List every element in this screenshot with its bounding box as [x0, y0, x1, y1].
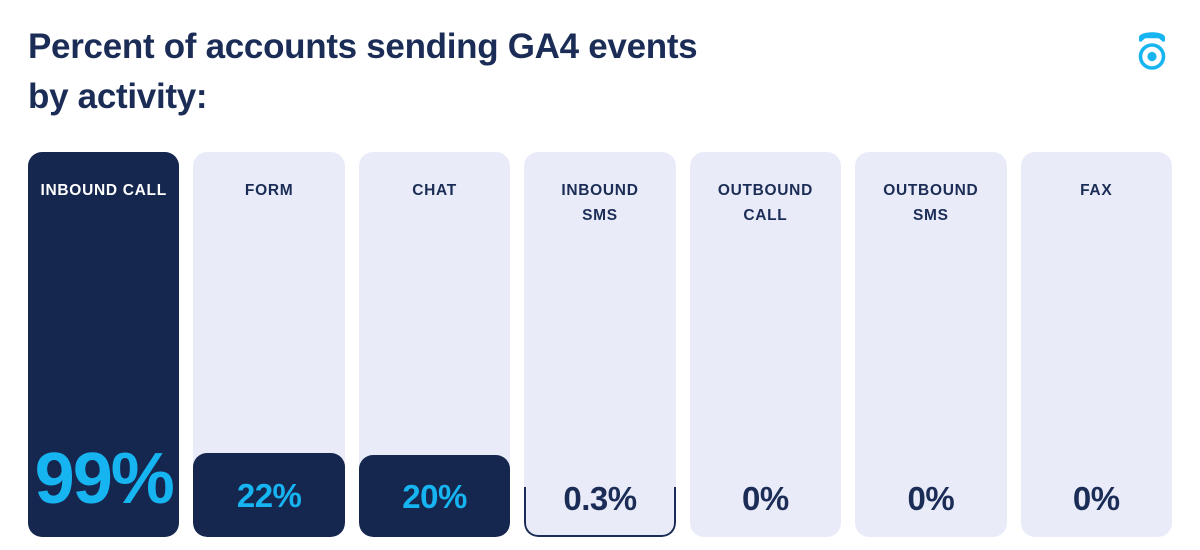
page-title: Percent of accounts sending GA4 events b… [28, 22, 1038, 121]
bar-value-fax: 0% [1073, 480, 1120, 517]
infographic-canvas: Percent of accounts sending GA4 events b… [0, 0, 1200, 550]
bar-value-outbound-sms: 0% [907, 480, 954, 517]
bar-label-chat: CHAT [365, 179, 504, 204]
bar-label-inbound-sms: INBOUND SMS [530, 179, 669, 229]
bar-chat[interactable]: CHAT 20% [359, 152, 510, 537]
bar-label-outbound-sms: OUTBOUND SMS [861, 179, 1000, 229]
bar-value-wrap-inbound-sms: 0.3% [524, 482, 675, 515]
bar-inbound-call[interactable]: INBOUND CALL 99% [28, 152, 179, 537]
bar-outbound-sms[interactable]: OUTBOUND SMS 0% [855, 152, 1006, 537]
bar-value-chat: 20% [402, 480, 467, 513]
header: Percent of accounts sending GA4 events b… [28, 22, 1038, 121]
bar-chart: INBOUND CALL 99% FORM 22% CHAT 20% INBOU… [28, 152, 1172, 537]
bar-value-wrap-outbound-call: 0% [690, 482, 841, 515]
bar-value-wrap-outbound-sms: 0% [855, 482, 1006, 515]
bar-value-inbound-sms: 0.3% [563, 480, 636, 517]
bar-value-inbound-call: 99% [35, 439, 173, 519]
bar-label-form: FORM [199, 179, 338, 204]
bar-label-fax: FAX [1027, 179, 1166, 204]
bar-label-outbound-call: OUTBOUND CALL [696, 179, 835, 229]
bar-form[interactable]: FORM 22% [193, 152, 344, 537]
bar-label-inbound-call: INBOUND CALL [34, 179, 173, 204]
bar-value-form: 22% [237, 479, 302, 512]
bar-fill-chat: 20% [359, 455, 510, 537]
bar-value-wrap-fax: 0% [1021, 482, 1172, 515]
bar-inbound-sms[interactable]: INBOUND SMS 0.3% [524, 152, 675, 537]
bar-fax[interactable]: FAX 0% [1021, 152, 1172, 537]
bar-fill-form: 22% [193, 453, 344, 537]
callrail-phone-target-logo-icon [1132, 26, 1172, 70]
bar-outbound-call[interactable]: OUTBOUND CALL 0% [690, 152, 841, 537]
bar-value-outbound-call: 0% [742, 480, 789, 517]
bar-value-wrap-inbound-call: 99% [28, 443, 179, 515]
